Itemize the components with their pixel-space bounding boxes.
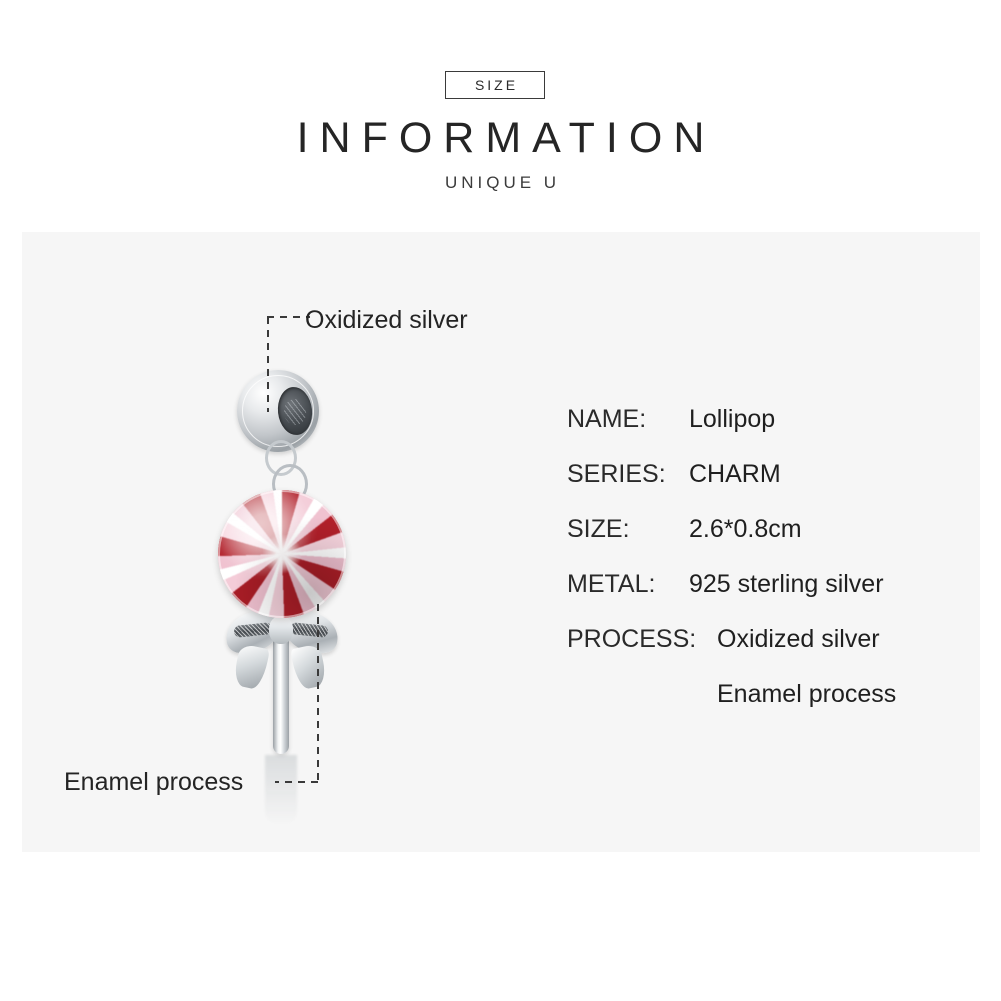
spec-row-process-continued: Enamel process <box>567 679 967 734</box>
page-subtitle: UNIQUE U <box>0 172 1001 194</box>
spec-value-process: Oxidized silver <box>717 624 880 654</box>
product-illustration <box>22 232 582 852</box>
spec-value-process-secondary: Enamel process <box>717 679 896 709</box>
size-badge: SIZE <box>445 71 545 99</box>
specification-list: NAME: Lollipop SERIES: CHARM SIZE: 2.6*0… <box>567 404 967 734</box>
spec-row-metal: METAL: 925 sterling silver <box>567 569 967 624</box>
spec-row-size: SIZE: 2.6*0.8cm <box>567 514 967 569</box>
spec-key-series: SERIES: <box>567 459 679 489</box>
spec-value-series: CHARM <box>689 459 781 489</box>
spec-value-name: Lollipop <box>689 404 775 434</box>
page-header: SIZE INFORMATION UNIQUE U <box>0 0 1001 232</box>
oxidized-texture <box>283 398 308 426</box>
page-title: INFORMATION <box>0 113 1001 163</box>
bow-knot <box>269 616 293 644</box>
spec-value-size: 2.6*0.8cm <box>689 514 802 544</box>
content-panel: Oxidized silver Enamel process NAME: Lol… <box>22 232 980 852</box>
lollipop-candy-enamel <box>218 490 346 618</box>
product-reflection <box>265 755 297 825</box>
spec-row-process: PROCESS: Oxidized silver <box>567 624 967 679</box>
spec-row-series: SERIES: CHARM <box>567 459 967 514</box>
spec-row-name: NAME: Lollipop <box>567 404 967 459</box>
size-badge-label: SIZE <box>472 77 518 93</box>
spec-key-size: SIZE: <box>567 514 679 544</box>
spec-key-metal: METAL: <box>567 569 679 599</box>
candy-rim <box>218 490 346 618</box>
annotation-enamel-process: Enamel process <box>64 767 243 797</box>
spec-value-metal: 925 sterling silver <box>689 569 884 599</box>
spec-key-process: PROCESS: <box>567 624 707 654</box>
spec-key-name: NAME: <box>567 404 679 434</box>
annotation-oxidized-silver: Oxidized silver <box>305 305 468 335</box>
